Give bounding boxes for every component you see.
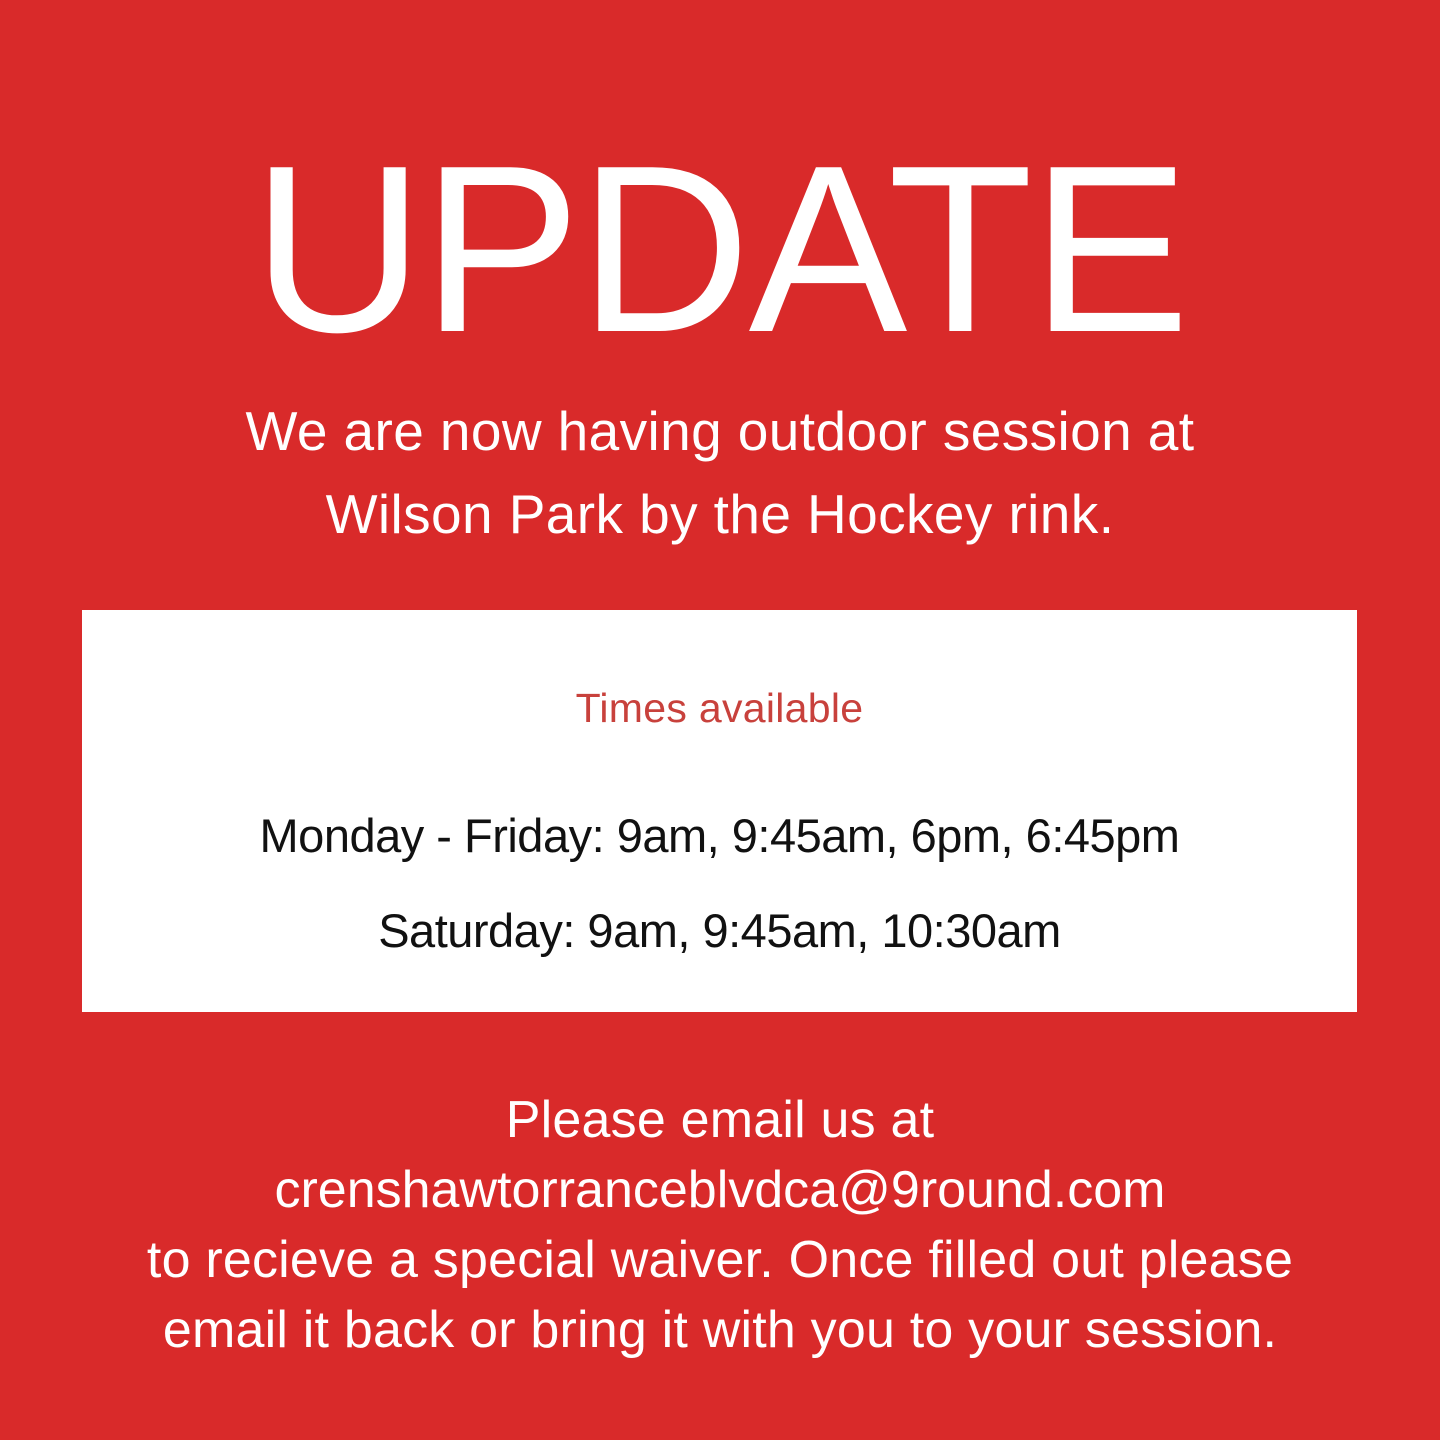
contact-line-3: to recieve a special waiver. Once filled…	[70, 1225, 1370, 1295]
list-item: Saturday: 9am, 9:45am, 10:30am	[82, 883, 1357, 978]
announcement-poster: UPDATE We are now having outdoor session…	[0, 0, 1440, 1440]
times-available-list: Monday - Friday: 9am, 9:45am, 6pm, 6:45p…	[82, 788, 1357, 978]
contact-line-1: Please email us at	[70, 1085, 1370, 1155]
times-available-card: Times available Monday - Friday: 9am, 9:…	[82, 610, 1357, 1012]
list-item: Monday - Friday: 9am, 9:45am, 6pm, 6:45p…	[82, 788, 1357, 883]
times-available-heading: Times available	[82, 684, 1357, 732]
subtitle-block: We are now having outdoor session at Wil…	[120, 390, 1320, 556]
page-title: UPDATE	[0, 150, 1440, 350]
subtitle-line-1: We are now having outdoor session at	[120, 390, 1320, 473]
contact-instructions-block: Please email us at crenshawtorranceblvdc…	[70, 1085, 1370, 1365]
contact-line-4: email it back or bring it with you to yo…	[70, 1295, 1370, 1365]
subtitle-line-2: Wilson Park by the Hockey rink.	[120, 473, 1320, 556]
contact-email-address: crenshawtorranceblvdca@9round.com	[70, 1155, 1370, 1225]
